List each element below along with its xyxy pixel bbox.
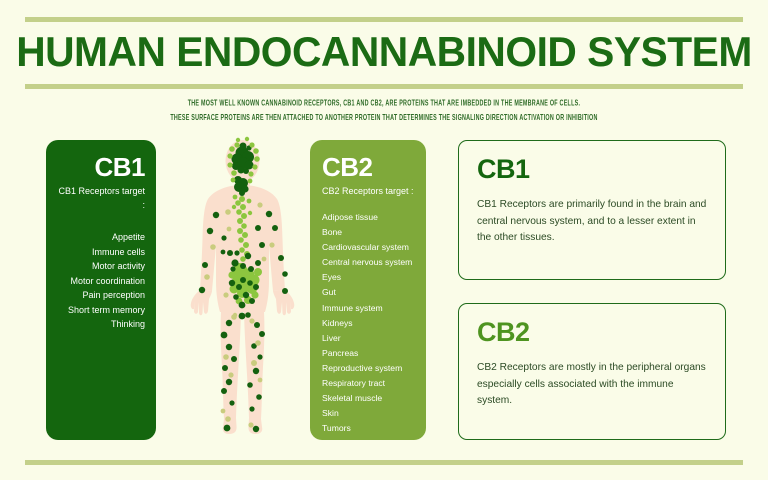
list-item: Skeletal muscle [322, 391, 418, 406]
divider-bottom [25, 460, 743, 465]
cb2-target-list: Adipose tissue Bone Cardiovascular syste… [322, 210, 418, 436]
cb1-description-card: CB1 CB1 Receptors are primarily found in… [458, 140, 726, 280]
list-item: Skin [322, 406, 418, 421]
cb2-panel-heading: CB2 [322, 152, 418, 182]
cb1-card-body: CB1 Receptors are primarily found in the… [477, 197, 707, 247]
list-item: Respiratory tract [322, 376, 418, 391]
list-item: Kidneys [322, 316, 418, 331]
cb1-target-panel: CB1 CB1 Receptors target : Appetite Immu… [46, 140, 156, 440]
cb1-target-list: Appetite Immune cells Motor activity Mot… [55, 230, 145, 332]
list-item: Bone [322, 225, 418, 240]
cb2-panel-subheading: CB2 Receptors target : [322, 184, 418, 198]
infographic-page: HUMAN ENDOCANNABINOID SYSTEM THE MOST WE… [0, 0, 768, 480]
cb1-card-heading: CB1 [477, 153, 707, 185]
list-item: Pain perception [55, 288, 145, 303]
cb2-target-panel: CB2 CB2 Receptors target : Adipose tissu… [310, 140, 426, 440]
cb2-description-card: CB2 CB2 Receptors are mostly in the peri… [458, 303, 726, 440]
subtitle-line-1: THE MOST WELL KNOWN CANNABINOID RECEPTOR… [0, 97, 768, 112]
list-item: Motor activity [55, 259, 145, 274]
list-item: Cardiovascular system [322, 240, 418, 255]
list-item: Short term memory [55, 303, 145, 318]
cb1-panel-subheading: CB1 Receptors target : [55, 184, 145, 212]
body-svg [180, 135, 305, 445]
list-item: Tumors [322, 421, 418, 436]
list-item: Immune system [322, 301, 418, 316]
list-item: Eyes [322, 270, 418, 285]
divider-top [25, 17, 743, 22]
list-item: Liver [322, 331, 418, 346]
list-item: Central nervous system [322, 255, 418, 270]
cb2-card-body: CB2 Receptors are mostly in the peripher… [477, 360, 707, 410]
list-item: Appetite [55, 230, 145, 245]
human-body-figure [180, 135, 305, 445]
list-item: Motor coordination [55, 274, 145, 289]
list-item: Gut [322, 285, 418, 300]
list-item: Adipose tissue [322, 210, 418, 225]
page-title: HUMAN ENDOCANNABINOID SYSTEM [12, 26, 757, 78]
cb1-panel-heading: CB1 [55, 152, 145, 182]
list-item: Immune cells [55, 245, 145, 260]
list-item: Reproductive system [322, 361, 418, 376]
divider-middle [25, 84, 743, 89]
cb2-card-heading: CB2 [477, 316, 707, 348]
list-item: Thinking [55, 317, 145, 332]
list-item: Pancreas [322, 346, 418, 361]
subtitle-line-2: THESE SURFACE PROTEINS ARE THEN ATTACHED… [0, 112, 768, 127]
page-subtitle: THE MOST WELL KNOWN CANNABINOID RECEPTOR… [0, 97, 768, 126]
